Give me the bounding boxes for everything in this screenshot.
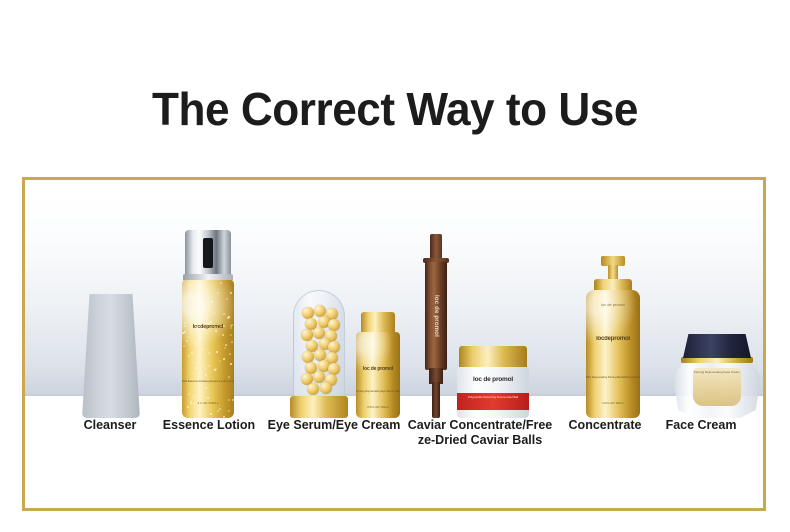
concentrate-brand: locdepromol xyxy=(586,336,640,342)
label-eye-serum-eye-cream: Eye Serum/Eye Cream xyxy=(254,418,414,433)
essence-lotion-pump-cap xyxy=(185,230,231,276)
label-face-cream: Face Cream xyxy=(646,418,756,433)
product-eye-serum-eye-cream: loc de promol Firming Rejuvenating Eye S… xyxy=(290,290,408,418)
caviar-jar-gold-lid xyxy=(459,346,527,368)
caviar-jar-brand: loc de promol xyxy=(457,376,529,383)
product-essence-lotion: locdepromcl Rich Essence Activating Esse… xyxy=(177,230,239,418)
eye-cream-body: loc de promol Firming Rejuvenating Eye S… xyxy=(356,332,400,418)
product-face-cream: Firming Rejuvenating Face Cream xyxy=(673,334,761,418)
eye-serum-capsule-dome xyxy=(290,290,348,418)
eye-serum-capsules xyxy=(301,305,339,397)
product-caviar-concentrate: loc de promol loc de promol Polypeptide … xyxy=(413,234,531,418)
caviar-jar-description: Polypeptide Rescuring Freeze-dried Ball xyxy=(457,395,529,399)
eye-cream-volume: 0.5 FL OZ / 15ml e xyxy=(356,406,400,410)
essence-lotion-body: locdepromcl Rich Essence Activating Esse… xyxy=(182,280,234,418)
cleanser-tube-body xyxy=(82,294,140,418)
eye-cream-brand: loc de promol xyxy=(356,366,400,372)
label-caviar-line-2: ze-Dried Caviar Balls xyxy=(418,433,542,447)
freeze-dried-caviar-balls-jar: loc de promol Polypeptide Rescuring Free… xyxy=(457,346,529,418)
concentrate-volume: 1.0 FL OZ / 30ml e xyxy=(586,402,640,406)
caviar-syringe-applicator: loc de promol xyxy=(419,234,453,418)
product-stage: locdepromcl Rich Essence Activating Esse… xyxy=(25,196,763,418)
eye-serum-glass-dome xyxy=(293,290,345,398)
eye-cream-cap xyxy=(361,312,395,334)
eye-cream-bottle: loc de promol Firming Rejuvenating Eye S… xyxy=(356,312,400,418)
eye-serum-gold-base xyxy=(290,396,348,418)
product-cleanser xyxy=(82,294,140,418)
label-caviar-line-1: Caviar Concentrate/Free xyxy=(408,418,553,432)
caviar-jar-glass: loc de promol Polypeptide Rescuring Free… xyxy=(457,367,529,418)
concentrate-description: Rich Rejuvenating Firming Revitalizing C… xyxy=(586,376,640,380)
eye-cream-description: Firming Rejuvenating Eye Serum Capsules … xyxy=(356,390,400,394)
essence-lotion-description: Rich Essence Activating Essence Lotion L… xyxy=(182,380,234,384)
essence-lotion-brand: locdepromcl xyxy=(182,324,234,330)
label-concentrate: Concentrate xyxy=(550,418,660,433)
face-cream-description: Firming Rejuvenating Face Cream xyxy=(673,370,761,374)
page-title: The Correct Way to Use xyxy=(16,86,774,132)
face-cream-dark-lid xyxy=(683,334,751,358)
concentrate-crest: loc de promol xyxy=(586,302,640,307)
syringe-tip xyxy=(432,382,440,418)
syringe-brand: loc de promol xyxy=(433,295,439,337)
caviar-jar-red-band: Polypeptide Rescuring Freeze-dried Ball xyxy=(457,393,529,410)
concentrate-body: loc de promol locdepromol Rich Rejuvenat… xyxy=(586,290,640,418)
product-concentrate: loc de promol locdepromol Rich Rejuvenat… xyxy=(580,256,646,418)
label-caviar-concentrate: Caviar Concentrate/Free ze-Dried Caviar … xyxy=(404,418,556,448)
product-label-row: Cleanser Essence Lotion Eye Serum/Eye Cr… xyxy=(22,418,766,468)
syringe-barrel: loc de promol xyxy=(425,262,447,370)
syringe-plunger xyxy=(430,234,442,260)
